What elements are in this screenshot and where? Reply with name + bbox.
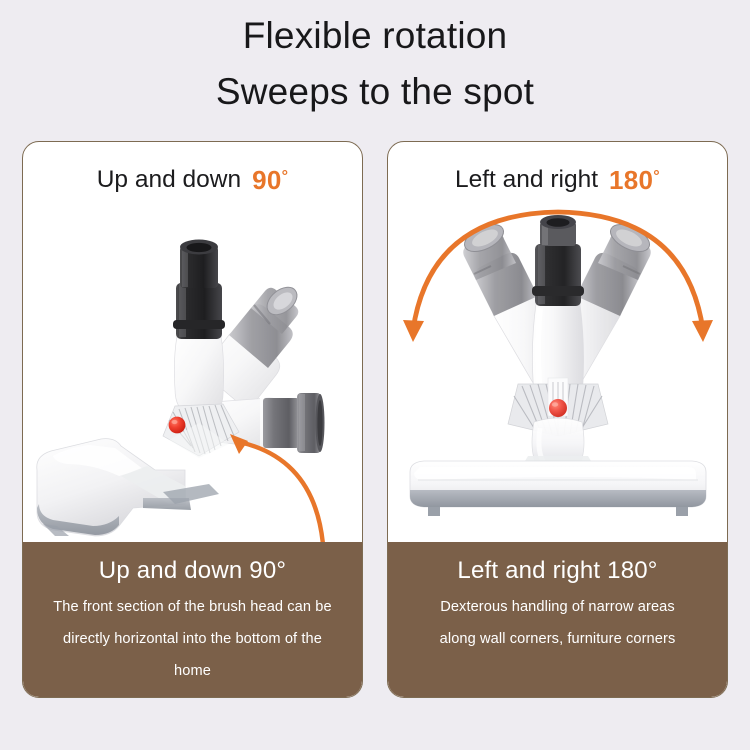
page-title-line-2: Sweeps to the spot — [0, 68, 750, 116]
panel-header-angle-value: 90 — [252, 165, 282, 195]
feature-panels: Up and down 90° — [0, 141, 750, 711]
pivot-marker-icon — [169, 417, 186, 434]
panel-header-angle: 180° — [609, 165, 660, 196]
degree-symbol-icon: ° — [653, 168, 660, 185]
illustration-front-view — [388, 208, 727, 542]
panel-header-label: Left and right — [455, 166, 598, 194]
pivot-marker-icon — [549, 399, 567, 417]
vacuum-head-side-view-graphic — [23, 208, 362, 542]
degree-symbol-icon: ° — [282, 168, 289, 185]
caption-left-and-right: Left and right 180° Dexterous handling o… — [388, 542, 727, 697]
caption-line-1: The front section of the brush head can … — [37, 591, 348, 623]
caption-up-and-down: Up and down 90° The front section of the… — [23, 542, 362, 697]
panel-header-label: Up and down — [97, 166, 241, 194]
vacuum-head-front-view-graphic — [388, 208, 727, 542]
page-title-line-1: Flexible rotation — [0, 12, 750, 60]
caption-title: Up and down 90° — [37, 554, 348, 587]
caption-line-2: along wall corners, furniture corners — [402, 623, 713, 655]
panel-header-angle: 90° — [252, 165, 288, 196]
caption-title: Left and right 180° — [402, 554, 713, 587]
caption-line-2: directly horizontal into the bottom of t… — [37, 623, 348, 655]
panel-left-and-right: Left and right 180° — [387, 141, 728, 698]
panel-header-angle-value: 180 — [609, 165, 653, 195]
caption-line-3: home — [37, 655, 348, 687]
caption-line-1: Dexterous handling of narrow areas — [402, 591, 713, 623]
panel-header-left-and-right: Left and right 180° — [388, 142, 727, 208]
panel-up-and-down: Up and down 90° — [22, 141, 363, 698]
panel-header-up-and-down: Up and down 90° — [23, 142, 362, 208]
brush-head-plate — [410, 456, 706, 516]
tube-position-vertical — [173, 240, 225, 417]
illustration-side-view — [23, 208, 362, 542]
page-headings: Flexible rotation Sweeps to the spot — [0, 0, 750, 130]
